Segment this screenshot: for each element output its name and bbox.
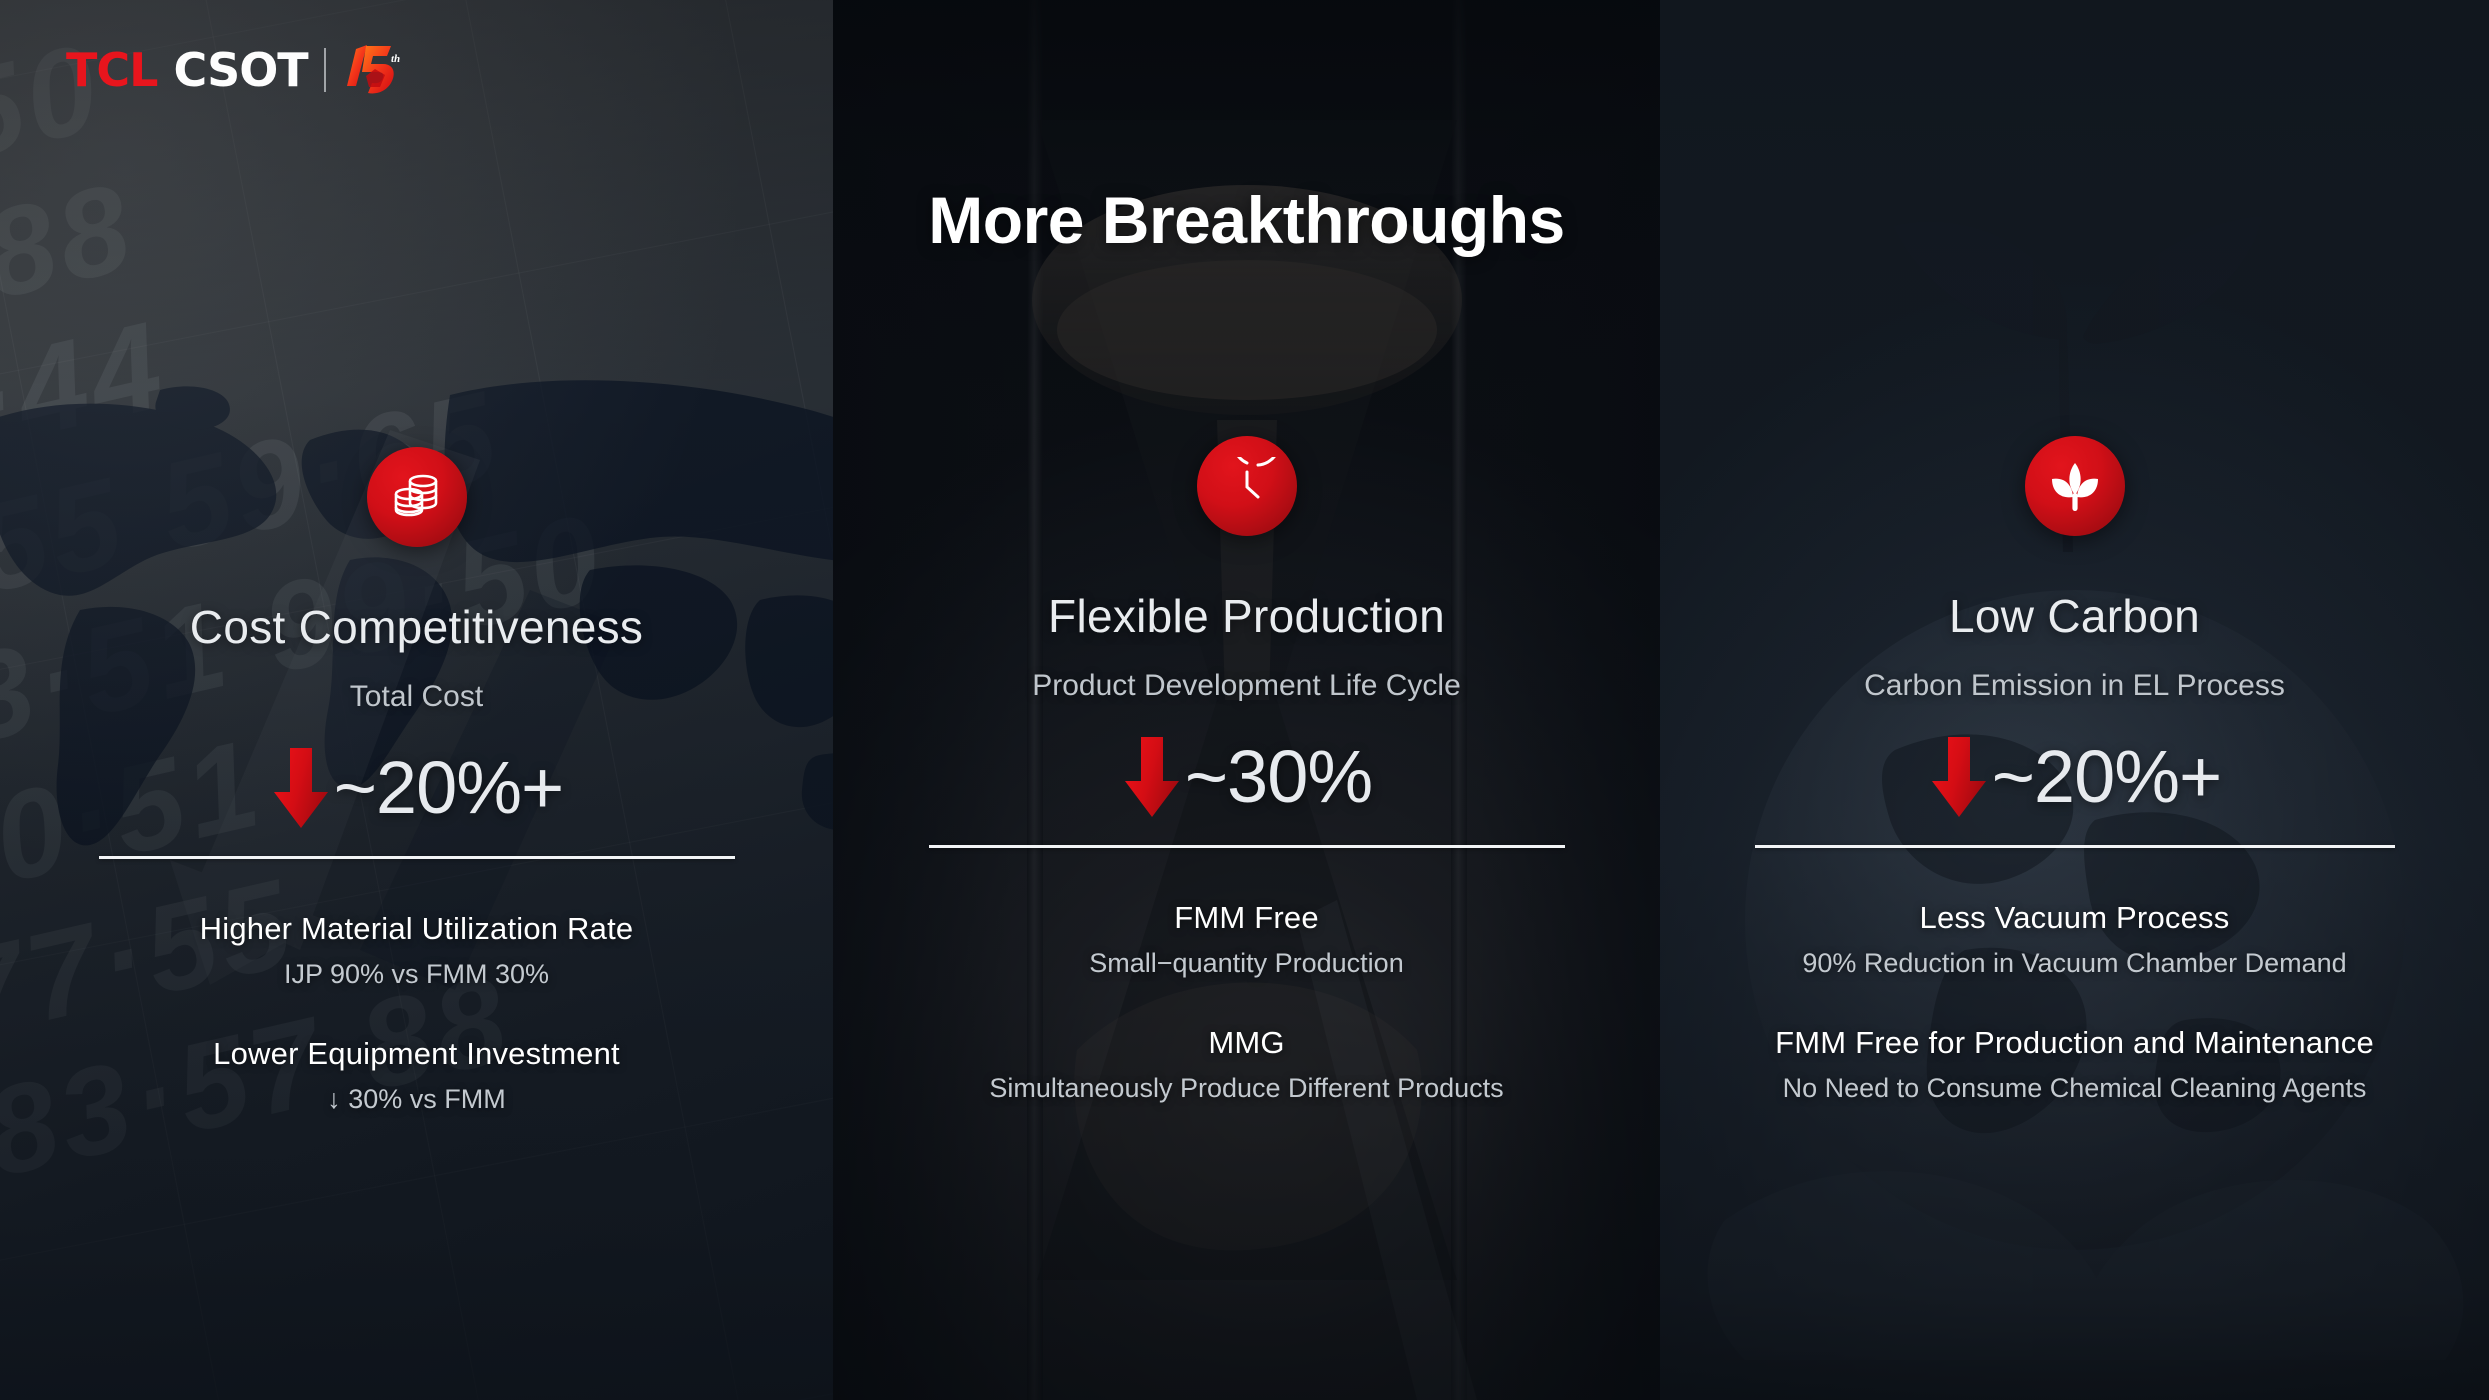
panel-1-content: Cost Competitiveness Total Cost ~20%+ <box>0 0 833 1400</box>
bullet-title: Lower Equipment Investment <box>0 1036 833 1072</box>
bullet-subtitle: ↓ 30% vs FMM <box>0 1084 833 1115</box>
down-arrow-icon <box>1121 733 1183 821</box>
panel-low-carbon: Low Carbon Carbon Emission in EL Process… <box>1660 0 2489 1400</box>
panel-1-bullets: Higher Material Utilization Rate IJP 90%… <box>0 911 833 1115</box>
panel-1-heading: Cost Competitiveness <box>190 600 643 654</box>
bullet-item: FMM Free for Production and Maintenance … <box>1660 1025 2489 1104</box>
bullet-subtitle: IJP 90% vs FMM 30% <box>0 959 833 990</box>
panel-cost-competitiveness: 65 99·50 19·88 34·44 6·55 59·65 73·51 99… <box>0 0 833 1400</box>
coin-stack-icon <box>367 447 467 547</box>
panel-2-bullets: FMM Free Small−quantity Production MMG S… <box>833 900 1660 1104</box>
bullet-item: MMG Simultaneously Produce Different Pro… <box>833 1025 1660 1104</box>
panel-2-metric: ~30% <box>1121 731 1372 823</box>
clock-icon <box>1197 436 1297 536</box>
panel-1-divider <box>99 856 735 859</box>
bullet-item: Less Vacuum Process 90% Reduction in Vac… <box>1660 900 2489 979</box>
bullet-item: Lower Equipment Investment ↓ 30% vs FMM <box>0 1036 833 1115</box>
panel-2-metric-value: ~30% <box>1185 740 1372 814</box>
bullet-title: MMG <box>833 1025 1660 1061</box>
panel-3-metric-value: ~20%+ <box>1992 740 2222 814</box>
panel-3-bullets: Less Vacuum Process 90% Reduction in Vac… <box>1660 900 2489 1104</box>
bullet-title: FMM Free for Production and Maintenance <box>1660 1025 2489 1061</box>
bullet-item: Higher Material Utilization Rate IJP 90%… <box>0 911 833 990</box>
logo-divider <box>324 48 326 92</box>
anniversary-15th-icon: th <box>342 42 402 98</box>
bullet-subtitle: 90% Reduction in Vacuum Chamber Demand <box>1660 948 2489 979</box>
panel-3-subheading: Carbon Emission in EL Process <box>1864 669 2285 703</box>
page-title: More Breakthroughs <box>833 182 1660 258</box>
panel-3-divider <box>1755 845 2395 848</box>
panel-2-subheading: Product Development Life Cycle <box>1032 669 1461 703</box>
panel-3-heading: Low Carbon <box>1949 589 2200 643</box>
svg-text:th: th <box>391 53 400 65</box>
bullet-title: Higher Material Utilization Rate <box>0 911 833 947</box>
presentation-slide: 65 99·50 19·88 34·44 6·55 59·65 73·51 99… <box>0 0 2489 1400</box>
logo-csot-text: CSOT <box>173 43 307 97</box>
bullet-subtitle: Simultaneously Produce Different Product… <box>833 1073 1660 1104</box>
panel-1-metric-value: ~20%+ <box>334 751 564 825</box>
down-arrow-icon <box>270 744 332 832</box>
bullet-item: FMM Free Small−quantity Production <box>833 900 1660 979</box>
panel-3-content: Low Carbon Carbon Emission in EL Process… <box>1660 0 2489 1400</box>
panel-1-subheading: Total Cost <box>350 680 483 714</box>
panel-3-metric: ~20%+ <box>1928 731 2222 823</box>
logo-tcl-text: TCL <box>66 43 157 97</box>
plant-leaf-icon <box>2025 436 2125 536</box>
panel-flexible-production: More Breakthroughs Flexible Production P… <box>833 0 1660 1400</box>
brand-logo: TCL CSOT th <box>66 42 402 98</box>
panel-1-metric: ~20%+ <box>270 742 564 834</box>
bullet-title: Less Vacuum Process <box>1660 900 2489 936</box>
down-arrow-icon <box>1928 733 1990 821</box>
panel-2-divider <box>929 845 1565 848</box>
bullet-title: FMM Free <box>833 900 1660 936</box>
bullet-subtitle: Small−quantity Production <box>833 948 1660 979</box>
bullet-subtitle: No Need to Consume Chemical Cleaning Age… <box>1660 1073 2489 1104</box>
panel-2-heading: Flexible Production <box>1048 589 1445 643</box>
